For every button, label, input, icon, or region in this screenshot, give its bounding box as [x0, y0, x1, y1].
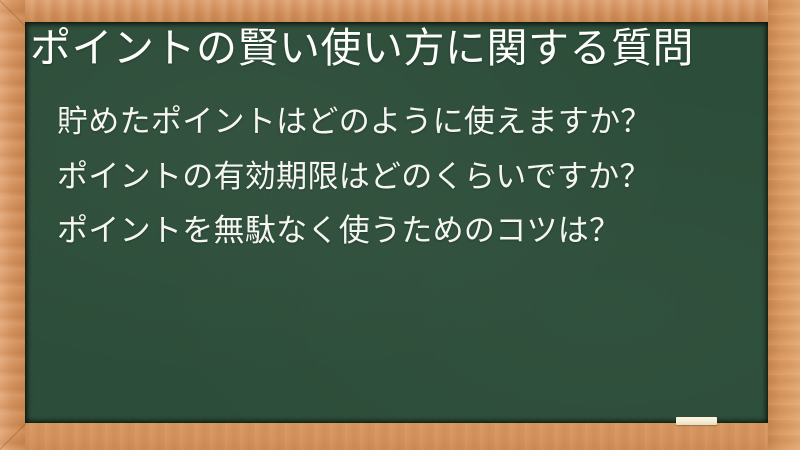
chalkboard-slide: ポイントの賢い使い方に関する質問 貯めたポイントはどのように使えますか？ ポイン… — [0, 0, 800, 450]
frame-left-rail — [0, 0, 25, 450]
frame-top-rail — [0, 0, 800, 22]
frame-right-rail — [768, 0, 800, 450]
list-item: ポイントの有効期限はどのくらいですか？ — [57, 161, 652, 194]
list-item: ポイントを無駄なく使うためのコツは？ — [57, 215, 652, 248]
page-title: ポイントの賢い使い方に関する質問 — [30, 26, 694, 72]
list-item: 貯めたポイントはどのように使えますか？ — [57, 106, 652, 139]
question-list: 貯めたポイントはどのように使えますか？ ポイントの有効期限はどのくらいですか？ … — [57, 106, 652, 248]
frame-bottom-ledge — [0, 423, 800, 450]
chalk-stick — [676, 417, 717, 425]
